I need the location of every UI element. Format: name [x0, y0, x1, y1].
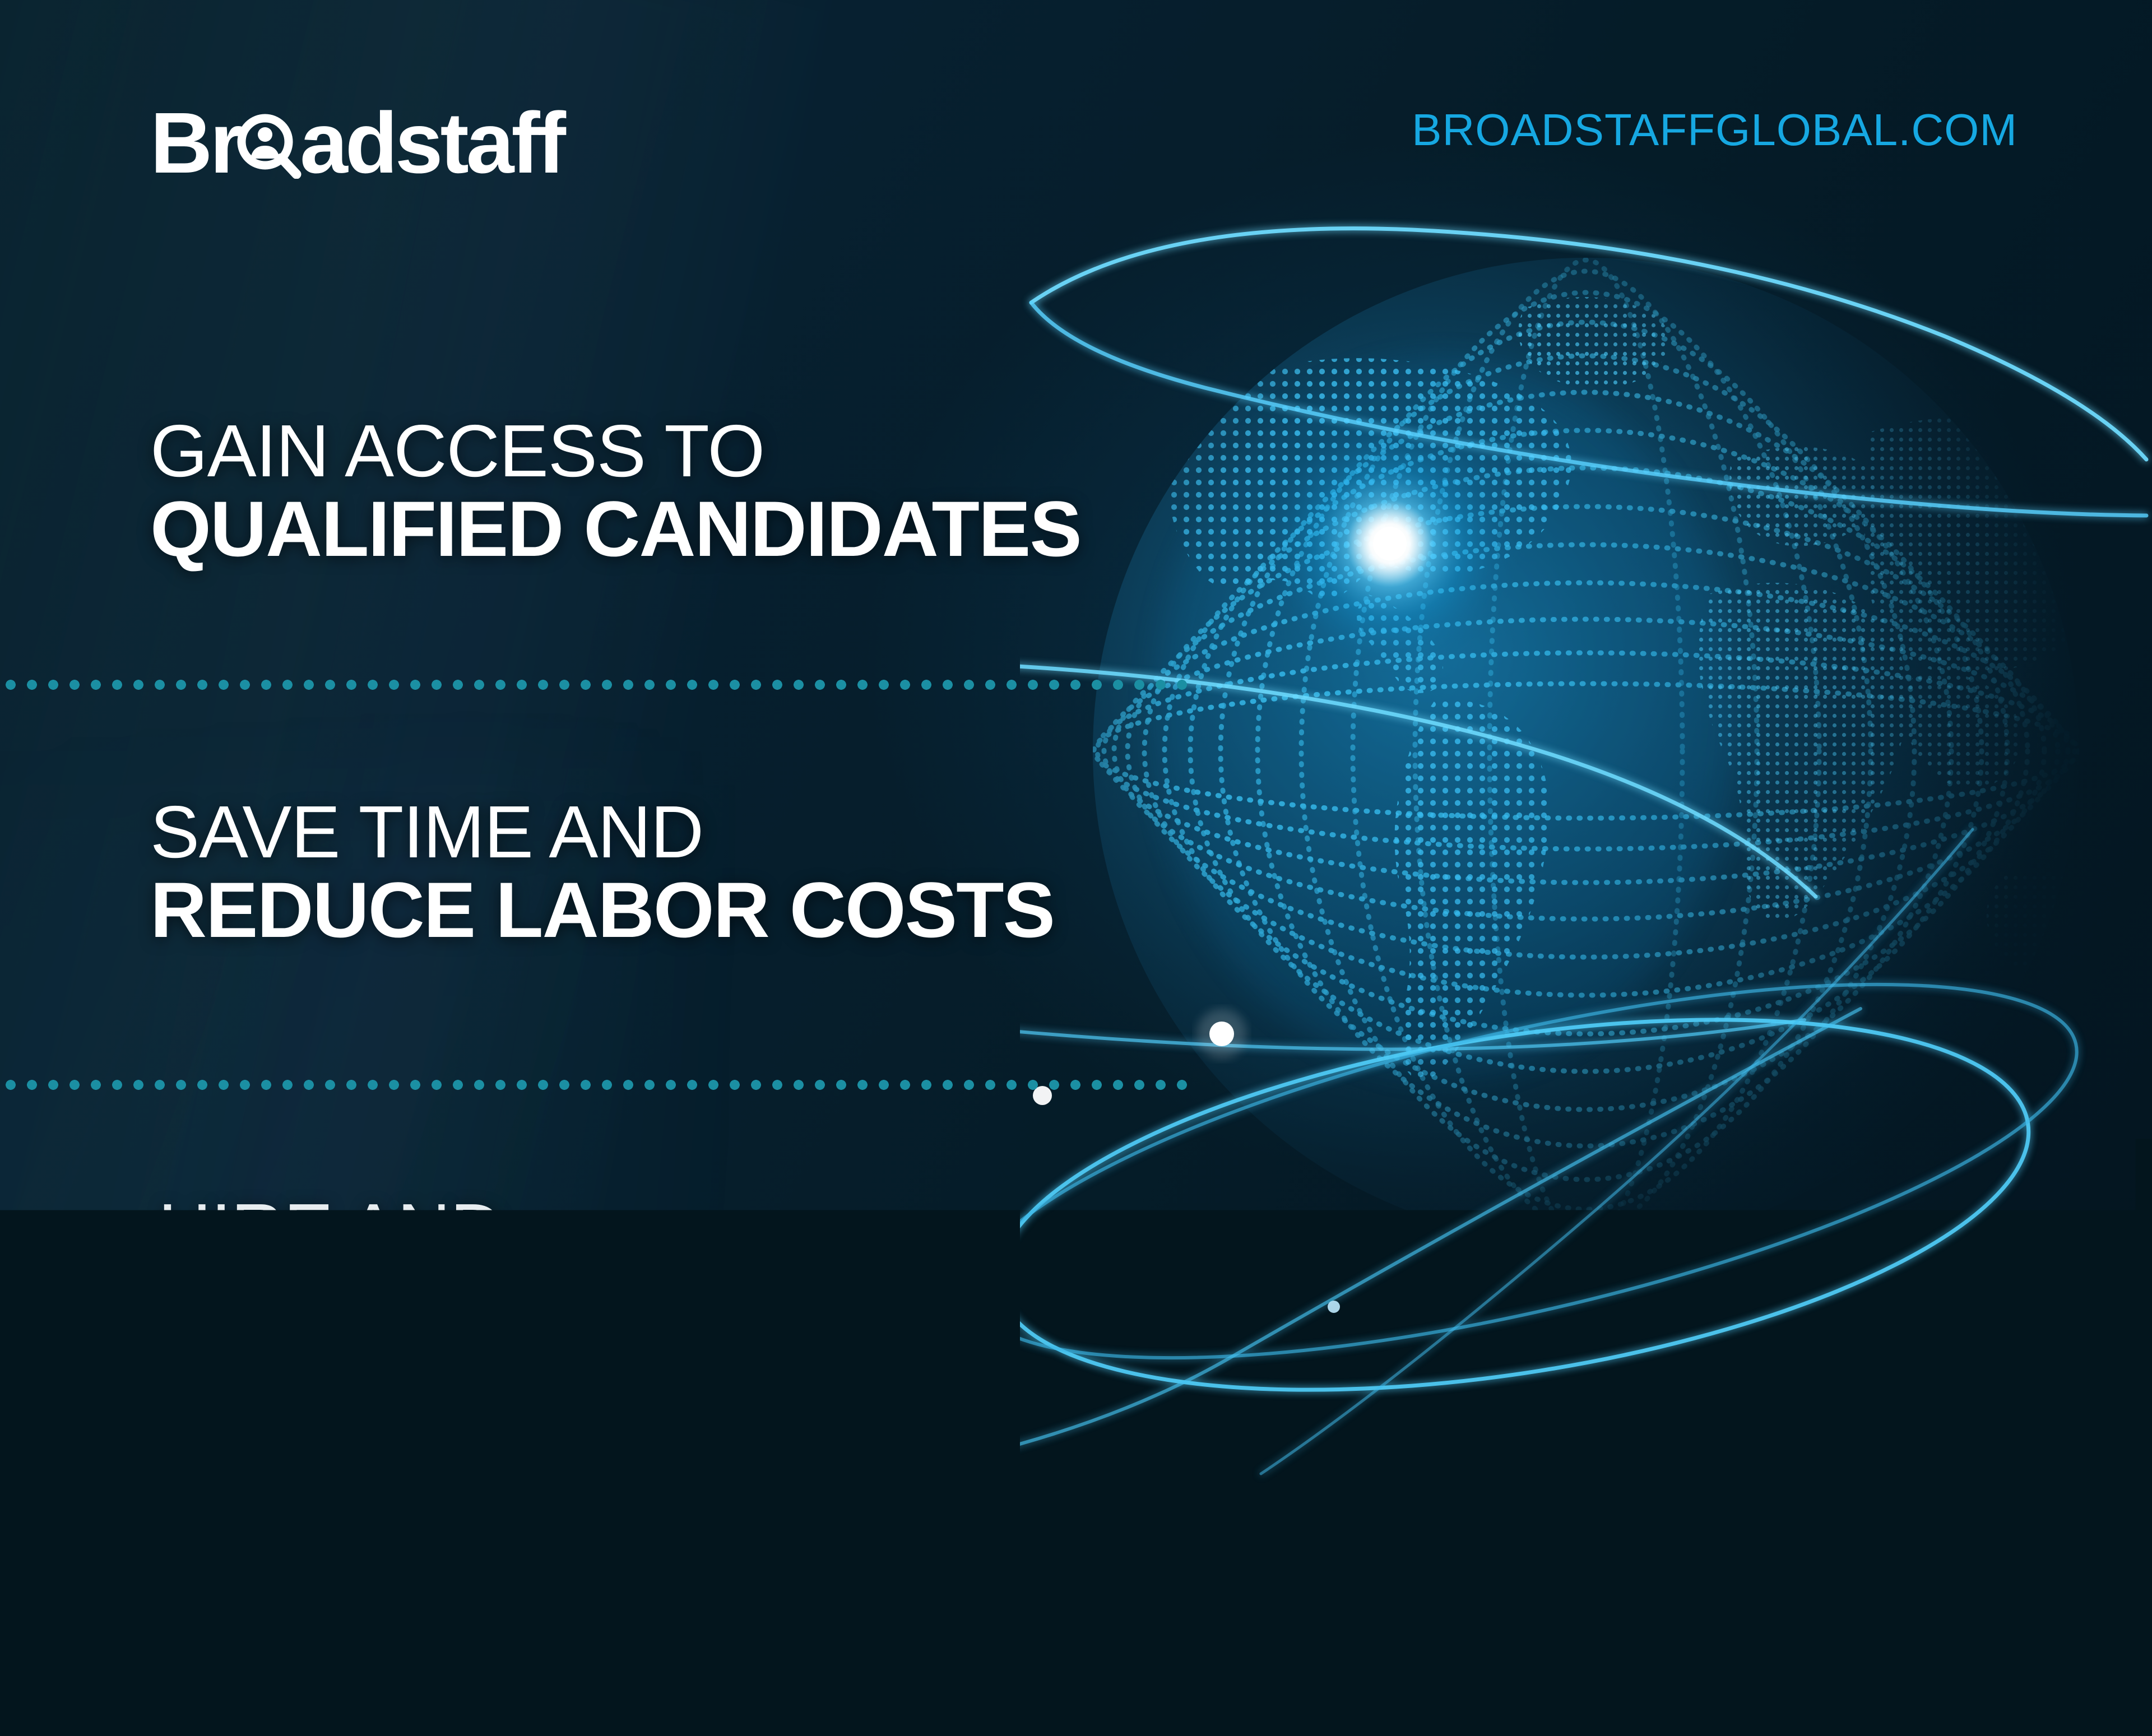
marketing-poster: Br adstaff BROADSTAFFGLOBAL.COM GAIN ACC…	[0, 0, 2152, 1736]
benefit-3-emphasis: RETAIN TOP TALENT	[158, 1268, 931, 1348]
tagline: EXPERT STAFFING IN TECHNOLOGY AND TELECO…	[152, 1513, 1012, 1622]
benefit-1-emphasis: QUALIFIED CANDIDATES	[150, 489, 1081, 569]
dotted-divider-1	[0, 680, 1189, 690]
benefit-block-3: HIRE AND RETAIN TOP TALENT	[158, 1192, 931, 1348]
benefit-2-lead: SAVE TIME AND	[150, 795, 1054, 870]
benefit-block-1: GAIN ACCESS TO QUALIFIED CANDIDATES	[150, 414, 1081, 569]
website-url[interactable]: BROADSTAFFGLOBAL.COM	[1412, 104, 2017, 156]
dotted-divider-2	[0, 1080, 1187, 1090]
benefit-1-lead: GAIN ACCESS TO	[150, 414, 1081, 489]
tagline-line-1: EXPERT STAFFING IN TECHNOLOGY AND	[152, 1513, 1012, 1567]
benefit-2-emphasis: REDUCE LABOR COSTS	[150, 870, 1054, 950]
logo-text-after: adstaff	[300, 100, 563, 186]
logo-text-before: Br	[150, 100, 240, 186]
brand-logo[interactable]: Br adstaff	[150, 100, 563, 186]
benefit-3-lead: HIRE AND	[158, 1192, 931, 1268]
tagline-line-2: TELECOMMUNICATIONS	[152, 1567, 1012, 1622]
magnifier-person-icon	[237, 106, 302, 180]
benefit-block-2: SAVE TIME AND REDUCE LABOR COSTS	[150, 795, 1054, 950]
dotted-globe-illustration	[1020, 168, 2152, 1524]
